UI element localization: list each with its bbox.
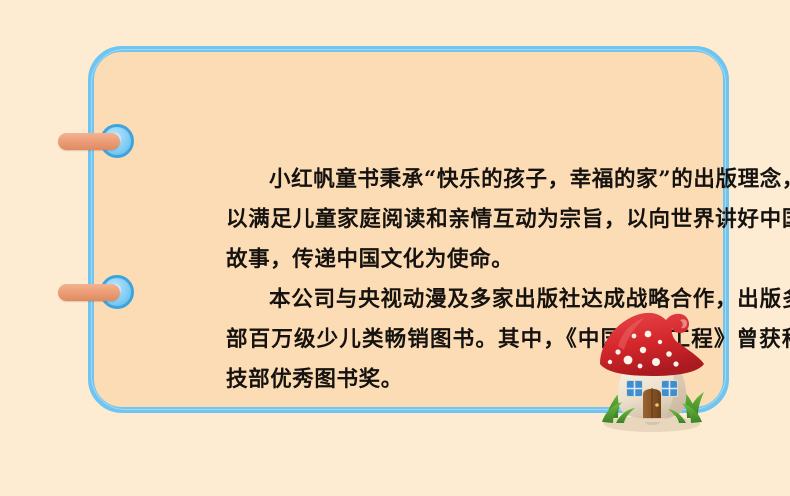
window-right — [661, 380, 678, 397]
door-knob — [655, 403, 659, 407]
paragraph-1: 小红帆童书秉承“快乐的孩子，幸福的家”的出版理念，以满足儿童家庭阅读和亲情互动为… — [226, 160, 790, 280]
pin-bar-icon — [58, 284, 120, 301]
mushroom-cap — [600, 313, 704, 376]
window-left — [626, 380, 643, 397]
pin-bar-icon — [58, 133, 120, 150]
mushroom-house-illustration — [588, 302, 716, 434]
bullet-pin-top — [58, 124, 134, 158]
bullet-pin-bottom — [58, 275, 134, 309]
slide-canvas: 小红帆童书秉承“快乐的孩子，幸福的家”的出版理念，以满足儿童家庭阅读和亲情互动为… — [0, 0, 790, 496]
